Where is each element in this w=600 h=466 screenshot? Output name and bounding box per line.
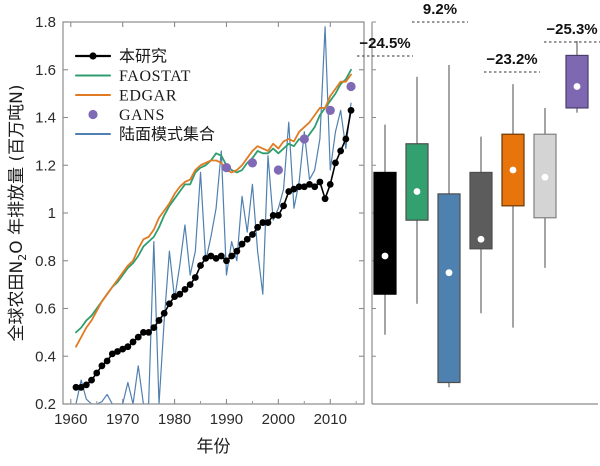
y-tick-label: 0.2	[35, 396, 56, 413]
series-marker-gans	[326, 106, 335, 115]
series-marker-this-study	[197, 262, 204, 269]
boxplot-5	[502, 84, 524, 328]
x-tick-label: 2000	[262, 411, 295, 428]
figure-canvas: 0.20.40.60.811.21.41.61.8196019701980199…	[0, 0, 600, 466]
series-marker-this-study	[104, 358, 111, 365]
series-marker-this-study	[161, 310, 168, 317]
x-tick-label: 1970	[106, 411, 139, 428]
y-tick-label: 1.6	[35, 62, 56, 79]
y-tick-label: 1	[48, 205, 56, 222]
y-tick-label: 0.4	[35, 348, 56, 365]
x-tick-label: 2010	[314, 411, 347, 428]
series-marker-this-study	[233, 248, 240, 255]
x-tick-label: 1990	[210, 411, 243, 428]
boxplot-4	[470, 137, 492, 314]
boxplot-mean-dot	[382, 253, 389, 260]
series-marker-this-study	[265, 219, 272, 226]
annotation-percent-0: −24.5%	[359, 35, 410, 52]
series-marker-gans	[274, 165, 283, 174]
series-marker-this-study	[337, 148, 344, 155]
boxplot-mean-dot	[510, 167, 517, 174]
legend-marker-this-study	[89, 52, 96, 59]
y-axis-title: 全球农田N2O 年排放量 (百万吨N)	[7, 85, 29, 342]
boxplot-mean-dot	[574, 83, 581, 90]
y-tick-label: 0.6	[35, 301, 56, 318]
series-marker-this-study	[244, 236, 251, 243]
x-axis-title: 年份	[197, 437, 231, 457]
series-marker-gans	[222, 163, 231, 172]
series-marker-this-study	[254, 224, 261, 231]
series-marker-this-study	[239, 241, 246, 248]
y-tick-label: 1.2	[35, 157, 56, 174]
series-line-this-study	[76, 110, 351, 387]
annotation-percent-1: 9.2%	[423, 1, 457, 18]
series-marker-this-study	[93, 370, 100, 377]
x-tick-label: 1980	[158, 411, 191, 428]
series-marker-gans	[300, 134, 309, 143]
boxplot-6	[534, 108, 556, 268]
series-marker-this-study	[275, 212, 282, 219]
series-marker-this-study	[311, 183, 318, 190]
legend-label-0: 本研究	[119, 47, 167, 66]
series-marker-this-study	[327, 181, 334, 188]
boxplot-mean-dot	[446, 269, 453, 276]
series-marker-this-study	[332, 159, 339, 166]
series-marker-this-study	[150, 324, 157, 331]
annotation-percent-2: −23.2%	[486, 51, 537, 68]
series-marker-this-study	[218, 253, 225, 260]
boxplot-box	[374, 172, 396, 294]
series-marker-this-study	[192, 274, 199, 281]
boxplot-1	[374, 125, 396, 335]
series-line-edgar	[76, 75, 351, 347]
series-marker-this-study	[135, 334, 142, 341]
series-marker-this-study	[88, 377, 95, 384]
boxplot-box	[406, 144, 428, 220]
series-marker-this-study	[322, 195, 329, 202]
boxplot-mean-dot	[478, 236, 485, 243]
legend-marker-gans	[88, 110, 97, 119]
annotation-percent-3: −25.3%	[546, 21, 597, 38]
boxplot-3	[438, 65, 460, 387]
series-marker-this-study	[182, 286, 189, 293]
boxplot-box	[438, 194, 460, 383]
boxplot-7	[566, 41, 588, 113]
legend-label-1: FAOSTAT	[119, 68, 191, 85]
series-marker-this-study	[316, 179, 323, 186]
series-marker-this-study	[83, 382, 90, 389]
series-marker-this-study	[223, 257, 230, 264]
series-marker-this-study	[145, 329, 152, 336]
series-marker-this-study	[99, 362, 106, 369]
boxplot-box	[566, 55, 588, 108]
boxplot-mean-dot	[542, 174, 549, 181]
series-marker-gans	[248, 158, 257, 167]
x-tick-label: 1960	[54, 411, 87, 428]
series-marker-this-study	[342, 136, 349, 143]
series-marker-this-study	[249, 231, 256, 238]
series-line-land-models	[76, 27, 351, 404]
boxplot-mean-dot	[414, 188, 421, 195]
series-marker-this-study	[156, 317, 163, 324]
y-tick-label: 0.8	[35, 253, 56, 270]
legend-label-2: EDGAR	[119, 88, 177, 105]
figure-root: 0.20.40.60.811.21.41.61.8196019701980199…	[0, 0, 600, 466]
boxplot-2	[406, 77, 428, 304]
legend-label-4: 陆面模式集合	[119, 125, 215, 144]
series-marker-this-study	[166, 300, 173, 307]
series-marker-this-study	[130, 339, 137, 346]
y-tick-label: 1.8	[35, 14, 56, 31]
series-marker-this-study	[176, 291, 183, 298]
series-marker-gans	[346, 82, 355, 91]
series-marker-this-study	[124, 343, 131, 350]
series-group	[73, 27, 356, 404]
legend-label-3: GANS	[119, 107, 165, 124]
series-marker-this-study	[187, 281, 194, 288]
left-panel-frame	[63, 22, 364, 404]
series-marker-this-study	[280, 202, 287, 209]
series-marker-this-study	[348, 107, 355, 114]
series-marker-this-study	[228, 253, 235, 260]
y-tick-label: 1.4	[35, 110, 56, 127]
series-line-faostat	[76, 70, 351, 333]
